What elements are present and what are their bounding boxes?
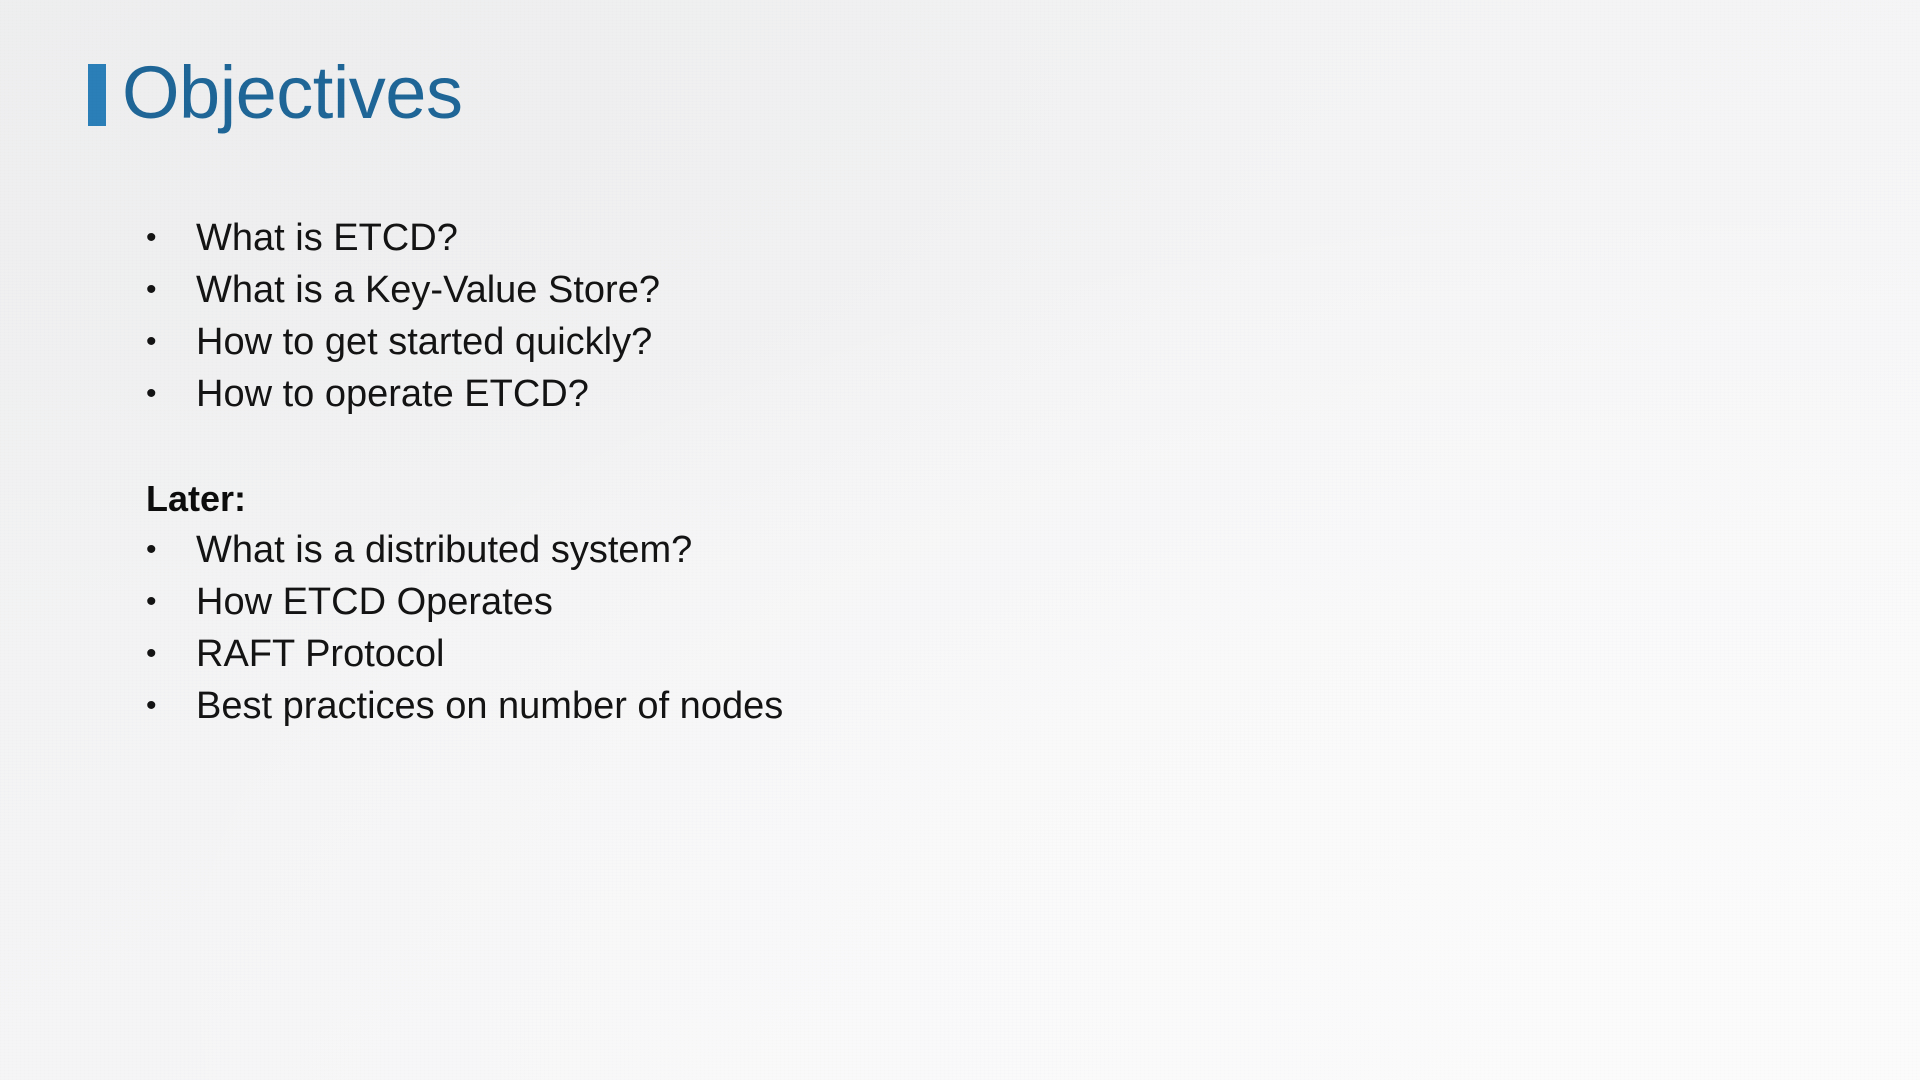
bullet-point-icon: •: [146, 212, 196, 264]
slide-canvas: Objectives • What is ETCD? • What is a K…: [0, 0, 1920, 1080]
list-item: • How to get started quickly?: [146, 316, 1546, 368]
list-item: • RAFT Protocol: [146, 628, 1546, 680]
list-item-label: RAFT Protocol: [196, 628, 444, 680]
bullet-point-icon: •: [146, 576, 196, 628]
bullet-point-icon: •: [146, 628, 196, 680]
list-item-label: What is a distributed system?: [196, 524, 692, 576]
list-item: • What is ETCD?: [146, 212, 1546, 264]
title-accent-bar-icon: [88, 64, 106, 126]
list-item: • How ETCD Operates: [146, 576, 1546, 628]
objectives-list-later: • What is a distributed system? • How ET…: [146, 524, 1546, 732]
list-item: • Best practices on number of nodes: [146, 680, 1546, 732]
objectives-list-primary: • What is ETCD? • What is a Key-Value St…: [146, 212, 1546, 420]
bullet-point-icon: •: [146, 524, 196, 576]
list-group-spacer: [146, 420, 1546, 474]
slide-body: • What is ETCD? • What is a Key-Value St…: [146, 212, 1546, 732]
list-item-label: What is a Key-Value Store?: [196, 264, 660, 316]
later-section-heading: Later:: [146, 474, 1546, 524]
bullet-point-icon: •: [146, 368, 196, 420]
bullet-point-icon: •: [146, 316, 196, 368]
list-item-label: How to get started quickly?: [196, 316, 652, 368]
list-item: • What is a distributed system?: [146, 524, 1546, 576]
page-title: Objectives: [122, 56, 462, 130]
list-item: • How to operate ETCD?: [146, 368, 1546, 420]
list-item-label: Best practices on number of nodes: [196, 680, 783, 732]
list-item-label: How ETCD Operates: [196, 576, 553, 628]
bullet-point-icon: •: [146, 264, 196, 316]
list-item-label: What is ETCD?: [196, 212, 458, 264]
bullet-point-icon: •: [146, 680, 196, 732]
list-item-label: How to operate ETCD?: [196, 368, 589, 420]
slide-title-row: Objectives: [88, 44, 462, 142]
list-item: • What is a Key-Value Store?: [146, 264, 1546, 316]
